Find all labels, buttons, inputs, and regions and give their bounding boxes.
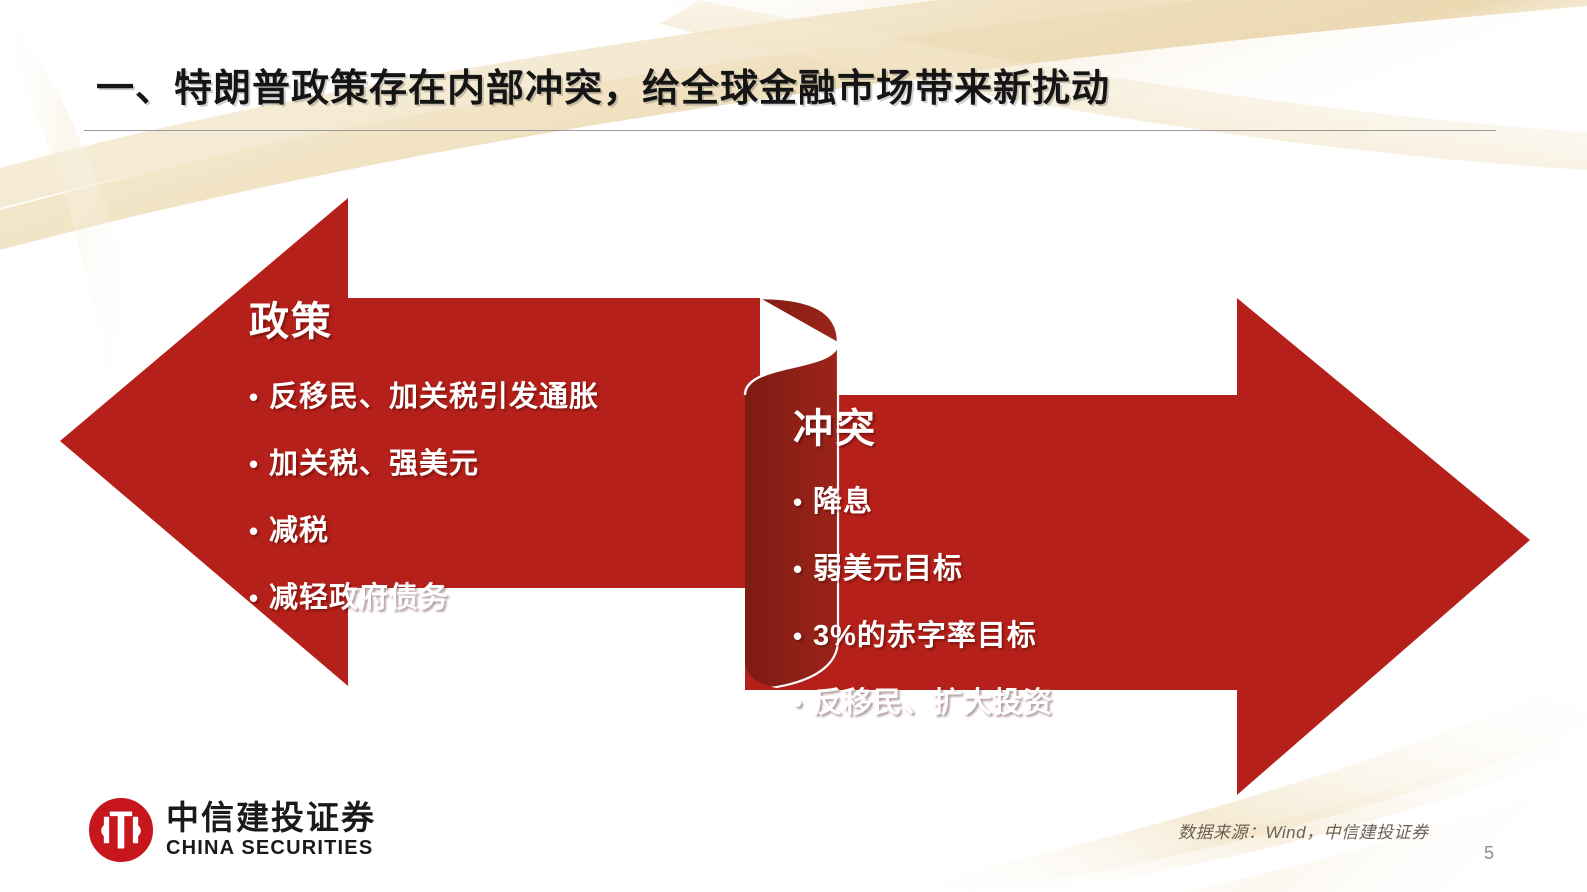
policy-bullet-list: • 反移民、加关税引发通胀 • 加关税、强美元 • 减税 • 减轻政府债务	[249, 373, 599, 641]
policy-band-heading: 政策	[249, 289, 333, 347]
list-item-label: 3%的赤字率目标	[813, 612, 1037, 654]
list-item: • 弱美元目标	[793, 545, 1053, 587]
bullet-icon: •	[249, 518, 269, 544]
list-item-label: 减轻政府债务	[269, 574, 449, 616]
source-note: 数据来源：Wind，中信建投证券	[1178, 818, 1429, 843]
list-item-label: 反移民、扩大投资	[813, 679, 1053, 721]
conflict-bullet-list: • 降息 • 弱美元目标 • 3%的赤字率目标 • 反移民、扩大投资	[793, 478, 1053, 746]
bullet-icon: •	[249, 384, 269, 410]
list-item: • 降息	[793, 478, 1053, 520]
page-number: 5	[1484, 843, 1494, 864]
list-item-label: 反移民、加关税引发通胀	[269, 373, 599, 415]
logo-wordmark: 中信建投证券 CHINA SECURITIES	[166, 801, 376, 860]
bullet-icon: •	[793, 623, 813, 649]
list-item: • 加关税、强美元	[249, 440, 599, 482]
logo-english-name: CHINA SECURITIES	[166, 837, 376, 859]
list-item: • 减轻政府债务	[249, 574, 599, 616]
list-item: • 反移民、加关税引发通胀	[249, 373, 599, 415]
bullet-icon: •	[793, 690, 813, 716]
list-item-label: 加关税、强美元	[269, 440, 479, 482]
logo-chinese-name: 中信建投证券	[166, 801, 376, 836]
list-item: • 反移民、扩大投资	[793, 679, 1053, 721]
list-item-label: 降息	[813, 478, 873, 520]
citic-circle-icon	[88, 797, 154, 863]
bullet-icon: •	[793, 489, 813, 515]
list-item: • 减税	[249, 507, 599, 549]
bullet-icon: •	[793, 556, 813, 582]
list-item-label: 弱美元目标	[813, 545, 963, 587]
bullet-icon: •	[249, 585, 269, 611]
company-logo: 中信建投证券 CHINA SECURITIES	[88, 797, 376, 863]
list-item: • 3%的赤字率目标	[793, 612, 1053, 654]
presentation-slide: 一、特朗普政策存在内部冲突，给全球金融市场带来新扰动 政策 • 反	[0, 0, 1587, 892]
bullet-icon: •	[249, 451, 269, 477]
list-item-label: 减税	[269, 507, 329, 549]
conflict-band-heading: 冲突	[793, 396, 877, 454]
